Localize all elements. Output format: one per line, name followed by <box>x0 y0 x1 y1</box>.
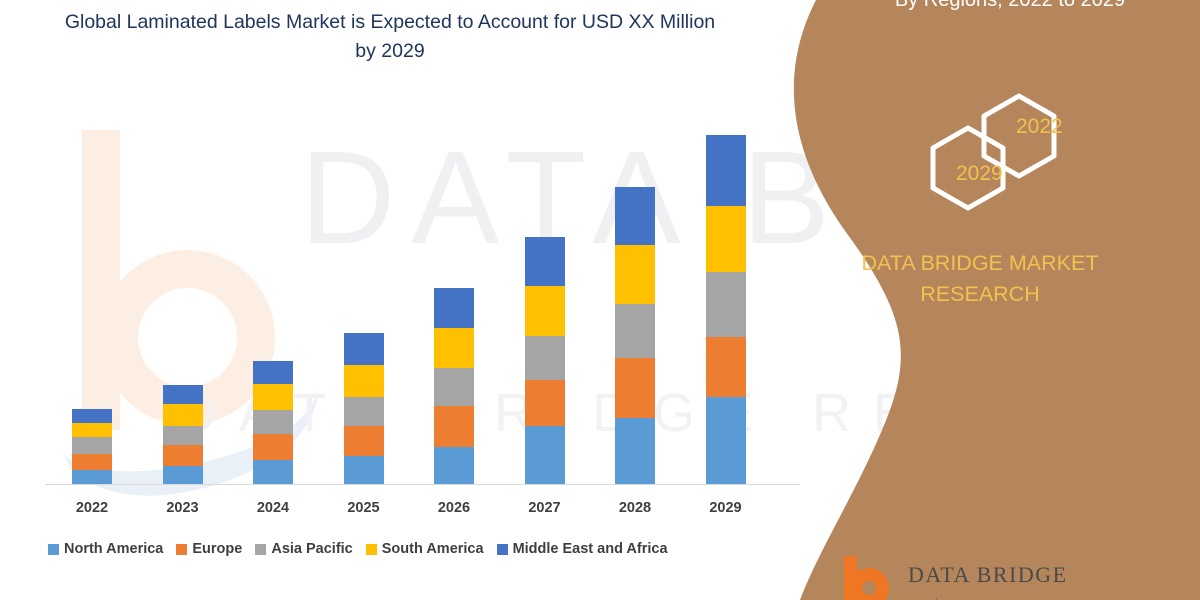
bar-segment-2026-europe <box>434 406 474 447</box>
brand-name-line-2: RESEARCH <box>790 279 1170 310</box>
legend-swatch-icon <box>497 544 508 555</box>
bar-segment-2027-north-america <box>525 426 565 484</box>
legend-item-south-america[interactable]: South America <box>366 541 484 557</box>
hexagon-label-2022: 2022 <box>1016 115 1063 139</box>
brand-name-line-1: DATA BRIDGE MARKET <box>790 248 1170 279</box>
legend-item-middle-east-and-africa[interactable]: Middle East and Africa <box>497 541 668 557</box>
bar-2022 <box>72 409 112 484</box>
x-axis-label-2022: 2022 <box>52 500 132 516</box>
bar-2025 <box>344 333 384 484</box>
bar-segment-2022-south-america <box>72 423 112 437</box>
bar-2026 <box>434 288 474 484</box>
bar-2024 <box>253 361 293 484</box>
legend-swatch-icon <box>48 544 59 555</box>
bar-segment-2029-europe <box>706 337 746 397</box>
brand-panel-heading: By Regions, 2022 to 2029 <box>830 0 1190 14</box>
logo-text: DATA BRIDGE <box>908 562 1068 588</box>
bar-segment-2025-asia-pacific <box>344 397 384 426</box>
bar-segment-2024-middle-east-and-africa <box>253 361 293 384</box>
bar-2029 <box>706 135 746 484</box>
bar-segment-2023-europe <box>163 445 203 466</box>
legend-swatch-icon <box>366 544 377 555</box>
bar-segment-2023-north-america <box>163 466 203 484</box>
bar-segment-2025-middle-east-and-africa <box>344 333 384 365</box>
bar-2023 <box>163 385 203 484</box>
chart-legend: North AmericaEuropeAsia PacificSouth Ame… <box>48 541 668 557</box>
bar-segment-2025-south-america <box>344 365 384 397</box>
x-axis-label-2029: 2029 <box>686 500 766 516</box>
bar-segment-2029-asia-pacific <box>706 272 746 337</box>
bar-segment-2024-asia-pacific <box>253 410 293 434</box>
bar-segment-2028-asia-pacific <box>615 304 655 358</box>
bar-segment-2024-south-america <box>253 384 293 410</box>
legend-label: Asia Pacific <box>271 541 352 557</box>
bar-segment-2024-north-america <box>253 460 293 484</box>
bar-segment-2026-north-america <box>434 447 474 484</box>
bar-segment-2026-south-america <box>434 328 474 368</box>
brand-panel: By Regions, 2022 to 2029 2022 2029 DATA … <box>760 0 1200 600</box>
chart-infographic: DATA BRIDGE DATA BRIDGE RESEARCH Global … <box>0 0 1200 600</box>
bar-2028 <box>615 187 655 484</box>
bar-segment-2029-north-america <box>706 397 746 484</box>
legend-label: Middle East and Africa <box>513 541 668 557</box>
bar-segment-2027-asia-pacific <box>525 336 565 380</box>
x-axis-label-2026: 2026 <box>414 500 494 516</box>
x-axis-line <box>45 484 800 485</box>
bar-segment-2028-north-america <box>615 418 655 484</box>
legend-label: Europe <box>192 541 242 557</box>
legend-swatch-icon <box>255 544 266 555</box>
legend-label: North America <box>64 541 163 557</box>
legend-item-asia-pacific[interactable]: Asia Pacific <box>255 541 352 557</box>
bar-segment-2026-middle-east-and-africa <box>434 288 474 328</box>
bar-segment-2029-middle-east-and-africa <box>706 135 746 206</box>
bar-segment-2023-south-america <box>163 404 203 426</box>
bar-segment-2023-asia-pacific <box>163 426 203 445</box>
bar-segment-2022-middle-east-and-africa <box>72 409 112 423</box>
data-bridge-logo: DATA BRIDGE <box>838 556 1108 600</box>
bar-segment-2027-europe <box>525 380 565 426</box>
bar-segment-2026-asia-pacific <box>434 368 474 406</box>
bar-segment-2022-asia-pacific <box>72 437 112 454</box>
bar-segment-2028-europe <box>615 358 655 418</box>
hexagon-label-2029: 2029 <box>956 162 1003 186</box>
brand-name: DATA BRIDGE MARKET RESEARCH <box>790 248 1170 310</box>
x-axis-label-2023: 2023 <box>143 500 223 516</box>
bar-segment-2028-south-america <box>615 245 655 304</box>
bar-segment-2027-south-america <box>525 286 565 336</box>
bar-segment-2025-north-america <box>344 456 384 484</box>
chart-plot-area: 20222023202420252026202720282029 <box>0 0 820 600</box>
bar-segment-2025-europe <box>344 426 384 456</box>
bar-segment-2029-south-america <box>706 206 746 272</box>
bar-segment-2027-middle-east-and-africa <box>525 237 565 286</box>
bar-segment-2022-europe <box>72 454 112 470</box>
hexagon-outlines-icon <box>920 92 1150 222</box>
bar-2027 <box>525 237 565 484</box>
x-axis-label-2025: 2025 <box>324 500 404 516</box>
bar-segment-2028-middle-east-and-africa <box>615 187 655 245</box>
legend-item-europe[interactable]: Europe <box>176 541 242 557</box>
x-axis-label-2024: 2024 <box>233 500 313 516</box>
legend-item-north-america[interactable]: North America <box>48 541 163 557</box>
bar-segment-2024-europe <box>253 434 293 460</box>
legend-label: South America <box>382 541 484 557</box>
x-axis-label-2027: 2027 <box>505 500 585 516</box>
legend-swatch-icon <box>176 544 187 555</box>
bar-segment-2022-north-america <box>72 470 112 484</box>
hexagon-group: 2022 2029 <box>920 92 1150 222</box>
x-axis-label-2028: 2028 <box>595 500 675 516</box>
bar-segment-2023-middle-east-and-africa <box>163 385 203 404</box>
